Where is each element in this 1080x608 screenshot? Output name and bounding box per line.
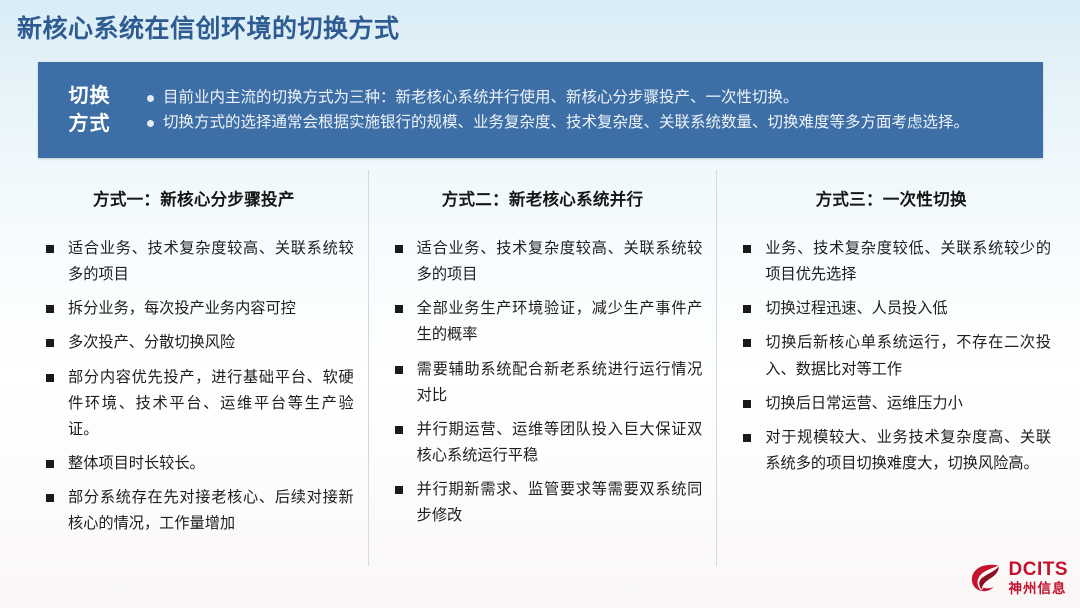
list-item-text: 拆分业务，每次投产业务内容可控 — [68, 300, 296, 317]
list-item-text: 需要辅助系统配合新老系统进行运行情况对比 — [417, 361, 703, 404]
list-item: 全部业务生产环境验证，减少生产事件产生的概率 — [395, 296, 703, 348]
square-bullet-icon — [743, 400, 751, 408]
column-heading: 方式三：一次性切换 — [731, 186, 1051, 210]
list-item-text: 适合业务、技术复杂度较高、关联系统较多的项目 — [68, 240, 354, 283]
list-item: 切换后新核心单系统运行，不存在二次投入、数据比对等工作 — [743, 330, 1051, 382]
column-method-two: 方式二：新老核心系统并行 适合业务、技术复杂度较高、关联系统较多的项目 全部业务… — [368, 170, 717, 566]
list-item: 业务、技术复杂度较低、关联系统较少的项目优先选择 — [743, 236, 1051, 288]
column-method-three: 方式三：一次性切换 业务、技术复杂度较低、关联系统较少的项目优先选择 切换过程迅… — [716, 170, 1065, 566]
list-item: 部分系统存在先对接老核心、后续对接新核心的情况，工作量增加 — [46, 485, 354, 537]
method-columns: 方式一：新核心分步骤投产 适合业务、技术复杂度较高、关联系统较多的项目 拆分业务… — [20, 170, 1065, 566]
bullet-dot-icon — [147, 95, 154, 102]
switch-method-banner: 切换 方式 目前业内主流的切换方式为三种：新老核心系统并行使用、新核心分步骤投产… — [38, 62, 1043, 158]
company-logo: DCITS 神州信息 — [968, 558, 1069, 598]
column-heading: 方式二：新老核心系统并行 — [383, 186, 703, 210]
list-item: 整体项目时长较长。 — [46, 451, 354, 477]
banner-label-line1: 切换 — [69, 82, 111, 110]
list-item: 拆分业务，每次投产业务内容可控 — [46, 296, 354, 322]
list-item-text: 整体项目时长较长。 — [68, 455, 205, 472]
list-item-text: 切换过程迅速、人员投入低 — [765, 300, 947, 317]
banner-bullet-2: 切换方式的选择通常会根据实施银行的规模、业务复杂度、技术复杂度、关联系统数量、切… — [147, 111, 1025, 135]
banner-label: 切换 方式 — [38, 62, 141, 158]
logo-wordmark: DCITS 神州信息 — [1009, 560, 1069, 596]
square-bullet-icon — [46, 339, 54, 347]
square-bullet-icon — [743, 434, 751, 442]
banner-bullet-1-text: 目前业内主流的切换方式为三种：新老核心系统并行使用、新核心分步骤投产、一次性切换… — [163, 86, 1025, 110]
list-item-text: 切换后新核心单系统运行，不存在二次投入、数据比对等工作 — [765, 334, 1051, 377]
square-bullet-icon — [46, 494, 54, 502]
list-item: 多次投产、分散切换风险 — [46, 330, 354, 356]
list-item: 部分内容优先投产，进行基础平台、软硬件环境、技术平台、运维平台等生产验证。 — [46, 365, 354, 443]
list-item-text: 对于规模较大、业务技术复杂度高、关联系统多的项目切换难度大，切换风险高。 — [765, 429, 1051, 472]
list-item-text: 适合业务、技术复杂度较高、关联系统较多的项目 — [417, 240, 703, 283]
square-bullet-icon — [46, 305, 54, 313]
list-item: 切换过程迅速、人员投入低 — [743, 296, 1051, 322]
dcits-swoosh-icon — [968, 560, 1004, 596]
list-item: 切换后日常运营、运维压力小 — [743, 391, 1051, 417]
list-item-text: 切换后日常运营、运维压力小 — [765, 395, 962, 412]
column-method-one: 方式一：新核心分步骤投产 适合业务、技术复杂度较高、关联系统较多的项目 拆分业务… — [20, 170, 368, 566]
square-bullet-icon — [395, 486, 403, 494]
list-item-text: 并行期运营、运维等团队投入巨大保证双核心系统运行平稳 — [417, 421, 703, 464]
list-item-text: 多次投产、分散切换风险 — [68, 334, 235, 351]
square-bullet-icon — [743, 305, 751, 313]
banner-bullet-1: 目前业内主流的切换方式为三种：新老核心系统并行使用、新核心分步骤投产、一次性切换… — [147, 86, 1025, 110]
logo-en-text: DCITS — [1009, 560, 1069, 579]
page-title: 新核心系统在信创环境的切换方式 — [17, 9, 400, 45]
banner-label-line2: 方式 — [69, 110, 111, 138]
logo-cn-text: 神州信息 — [1009, 582, 1069, 596]
list-item: 对于规模较大、业务技术复杂度高、关联系统多的项目切换难度大，切换风险高。 — [743, 425, 1051, 477]
square-bullet-icon — [395, 305, 403, 313]
list-item-text: 部分系统存在先对接老核心、后续对接新核心的情况，工作量增加 — [68, 489, 354, 532]
square-bullet-icon — [395, 426, 403, 434]
square-bullet-icon — [743, 245, 751, 253]
column-three-list: 业务、技术复杂度较低、关联系统较少的项目优先选择 切换过程迅速、人员投入低 切换… — [731, 236, 1051, 477]
list-item: 适合业务、技术复杂度较高、关联系统较多的项目 — [46, 236, 354, 288]
list-item: 适合业务、技术复杂度较高、关联系统较多的项目 — [395, 236, 703, 288]
square-bullet-icon — [743, 339, 751, 347]
column-two-list: 适合业务、技术复杂度较高、关联系统较多的项目 全部业务生产环境验证，减少生产事件… — [383, 236, 703, 529]
square-bullet-icon — [46, 374, 54, 382]
column-heading: 方式一：新核心分步骤投产 — [34, 186, 354, 210]
square-bullet-icon — [46, 245, 54, 253]
list-item: 并行期运营、运维等团队投入巨大保证双核心系统运行平稳 — [395, 417, 703, 469]
banner-body: 目前业内主流的切换方式为三种：新老核心系统并行使用、新核心分步骤投产、一次性切换… — [141, 62, 1043, 158]
list-item-text: 部分内容优先投产，进行基础平台、软硬件环境、技术平台、运维平台等生产验证。 — [68, 369, 354, 438]
list-item-text: 全部业务生产环境验证，减少生产事件产生的概率 — [417, 300, 703, 343]
bullet-dot-icon — [147, 120, 154, 127]
list-item-text: 业务、技术复杂度较低、关联系统较少的项目优先选择 — [765, 240, 1051, 283]
list-item: 需要辅助系统配合新老系统进行运行情况对比 — [395, 357, 703, 409]
banner-bullet-2-text: 切换方式的选择通常会根据实施银行的规模、业务复杂度、技术复杂度、关联系统数量、切… — [163, 111, 1025, 135]
list-item: 并行期新需求、监管要求等需要双系统同步修改 — [395, 477, 703, 529]
square-bullet-icon — [395, 366, 403, 374]
list-item-text: 并行期新需求、监管要求等需要双系统同步修改 — [417, 481, 703, 524]
square-bullet-icon — [395, 245, 403, 253]
square-bullet-icon — [46, 460, 54, 468]
column-one-list: 适合业务、技术复杂度较高、关联系统较多的项目 拆分业务，每次投产业务内容可控 多… — [34, 236, 354, 537]
